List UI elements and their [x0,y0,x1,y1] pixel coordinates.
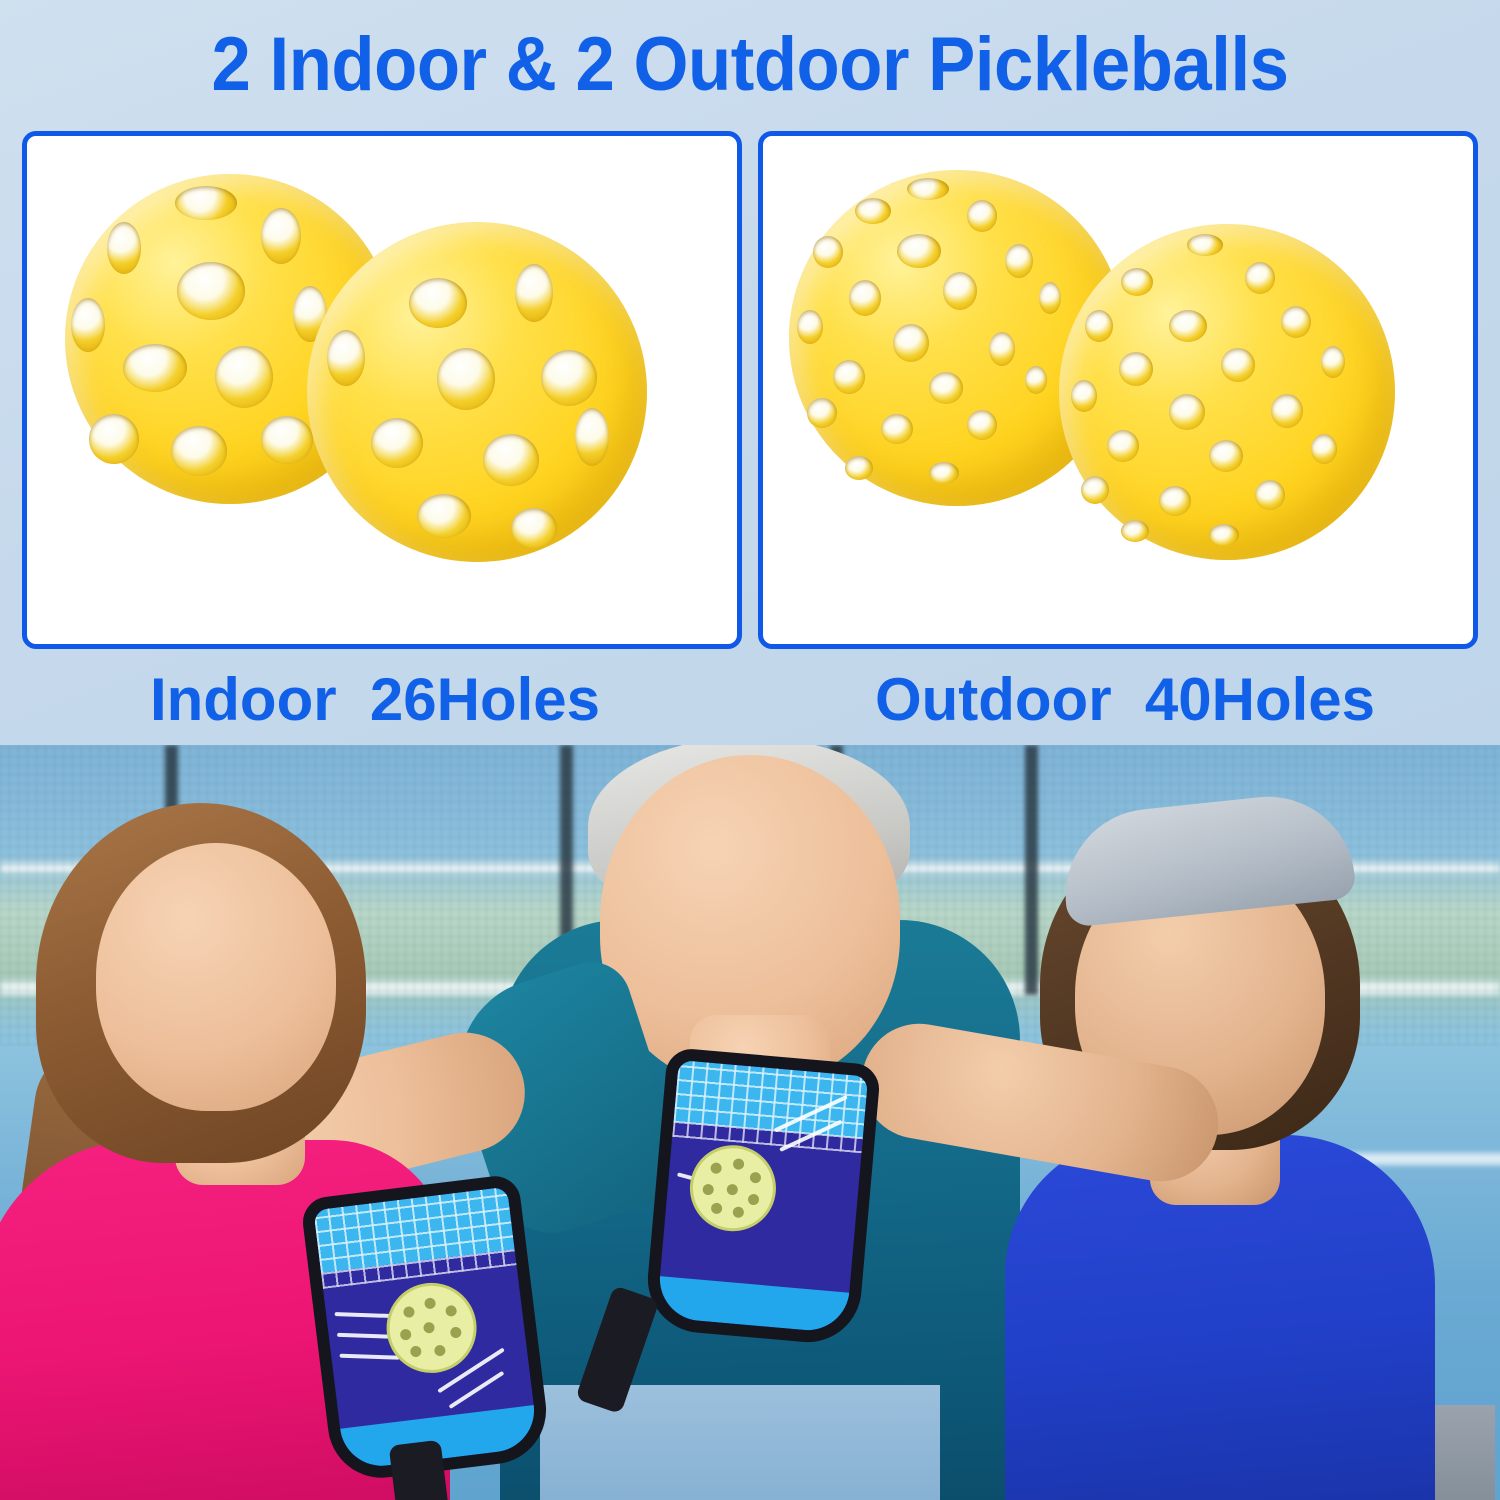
ball-card-indoor [22,131,742,649]
woman-pink-head [96,843,336,1111]
ball-cards-row [22,131,1478,649]
page-title: 2 Indoor & 2 Outdoor Pickleballs [53,24,1448,106]
product-poster: 2 Indoor & 2 Outdoor Pickleballs [0,0,1500,1500]
indoor-ball-front [307,222,647,562]
fence-post-4 [1025,745,1038,995]
lifestyle-photo: ✔ Excellent Durability ✔ Perfect Bounce … [0,745,1500,1500]
outdoor-ball-front [1059,224,1395,560]
card-label-indoor: Indoor 26Holes [0,655,750,745]
outdoor-ball-stage [763,136,1473,644]
ball-card-outdoor [758,131,1478,649]
indoor-ball-stage [27,136,737,644]
top-section: 2 Indoor & 2 Outdoor Pickleballs [0,0,1500,745]
card-labels-row: Indoor 26Holes Outdoor 40Holes [0,655,1500,745]
card-label-outdoor: Outdoor 40Holes [750,655,1500,745]
